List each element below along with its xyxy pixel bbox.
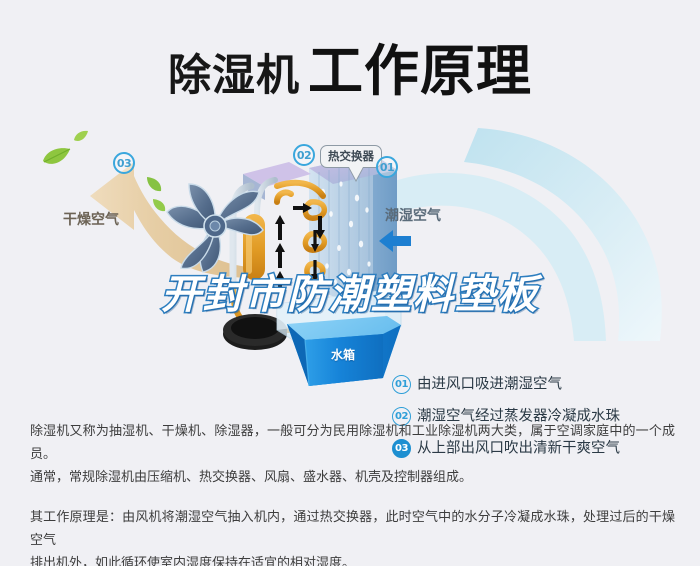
infographic-page: 除湿机工作原理 (0, 0, 700, 566)
water-tank-graphic: 水箱 (283, 316, 403, 391)
paragraph-one-line-two: 通常，常规除湿机由压缩机、热交换器、风扇、盛水器、机壳及控制器组成。 (30, 470, 472, 485)
page-title: 除湿机工作原理 (0, 26, 700, 106)
paragraph-two-line-two: 排出机外，如此循环使室内湿度保持在适宜的相对湿度。 (30, 556, 355, 566)
fan-graphic (158, 168, 273, 278)
paragraph-one-line-one: 除湿机又称为抽湿机、干燥机、除湿器，一般可分为民用除湿机和工业除湿机两大类，属于… (30, 424, 675, 462)
leaf-icon (73, 130, 89, 146)
paragraph-one: 除湿机又称为抽湿机、干燥机、除湿器，一般可分为民用除湿机和工业除湿机两大类，属于… (30, 420, 675, 489)
step-text: 由进风口吸进潮湿空气 (417, 377, 562, 393)
process-step-item: 01由进风口吸进潮湿空气 (392, 368, 692, 400)
diagram-badge-01: 01 (376, 156, 398, 178)
leaf-icon (42, 146, 72, 168)
water-tank-label: 水箱 (283, 346, 403, 363)
dehumidifier-diagram: 水箱 03 干燥空气 02 热交换器 01 潮湿空气 01由进风口吸进潮湿空气 … (0, 120, 700, 390)
diagram-badge-03: 03 (113, 152, 135, 174)
diagram-badge-02: 02 (293, 144, 315, 166)
page-title-secondary: 工作原理 (308, 39, 532, 103)
diagram-label-humid-air: 潮湿空气 (385, 205, 441, 225)
paragraph-two-line-one: 其工作原理是：由风机将潮湿空气抽入机内，通过热交换器，此时空气中的水分子冷凝成水… (30, 510, 675, 548)
page-title-primary: 除湿机 (168, 51, 300, 101)
paragraph-two: 其工作原理是：由风机将潮湿空气抽入机内，通过热交换器，此时空气中的水分子冷凝成水… (30, 506, 675, 566)
diagram-label-dry-air: 干燥空气 (63, 209, 119, 229)
description-body: 除湿机又称为抽湿机、干燥机、除湿器，一般可分为民用除湿机和工业除湿机两大类，属于… (30, 420, 675, 566)
diagram-label-heat-exchanger: 热交换器 (320, 145, 382, 168)
step-number-badge: 01 (392, 375, 411, 394)
